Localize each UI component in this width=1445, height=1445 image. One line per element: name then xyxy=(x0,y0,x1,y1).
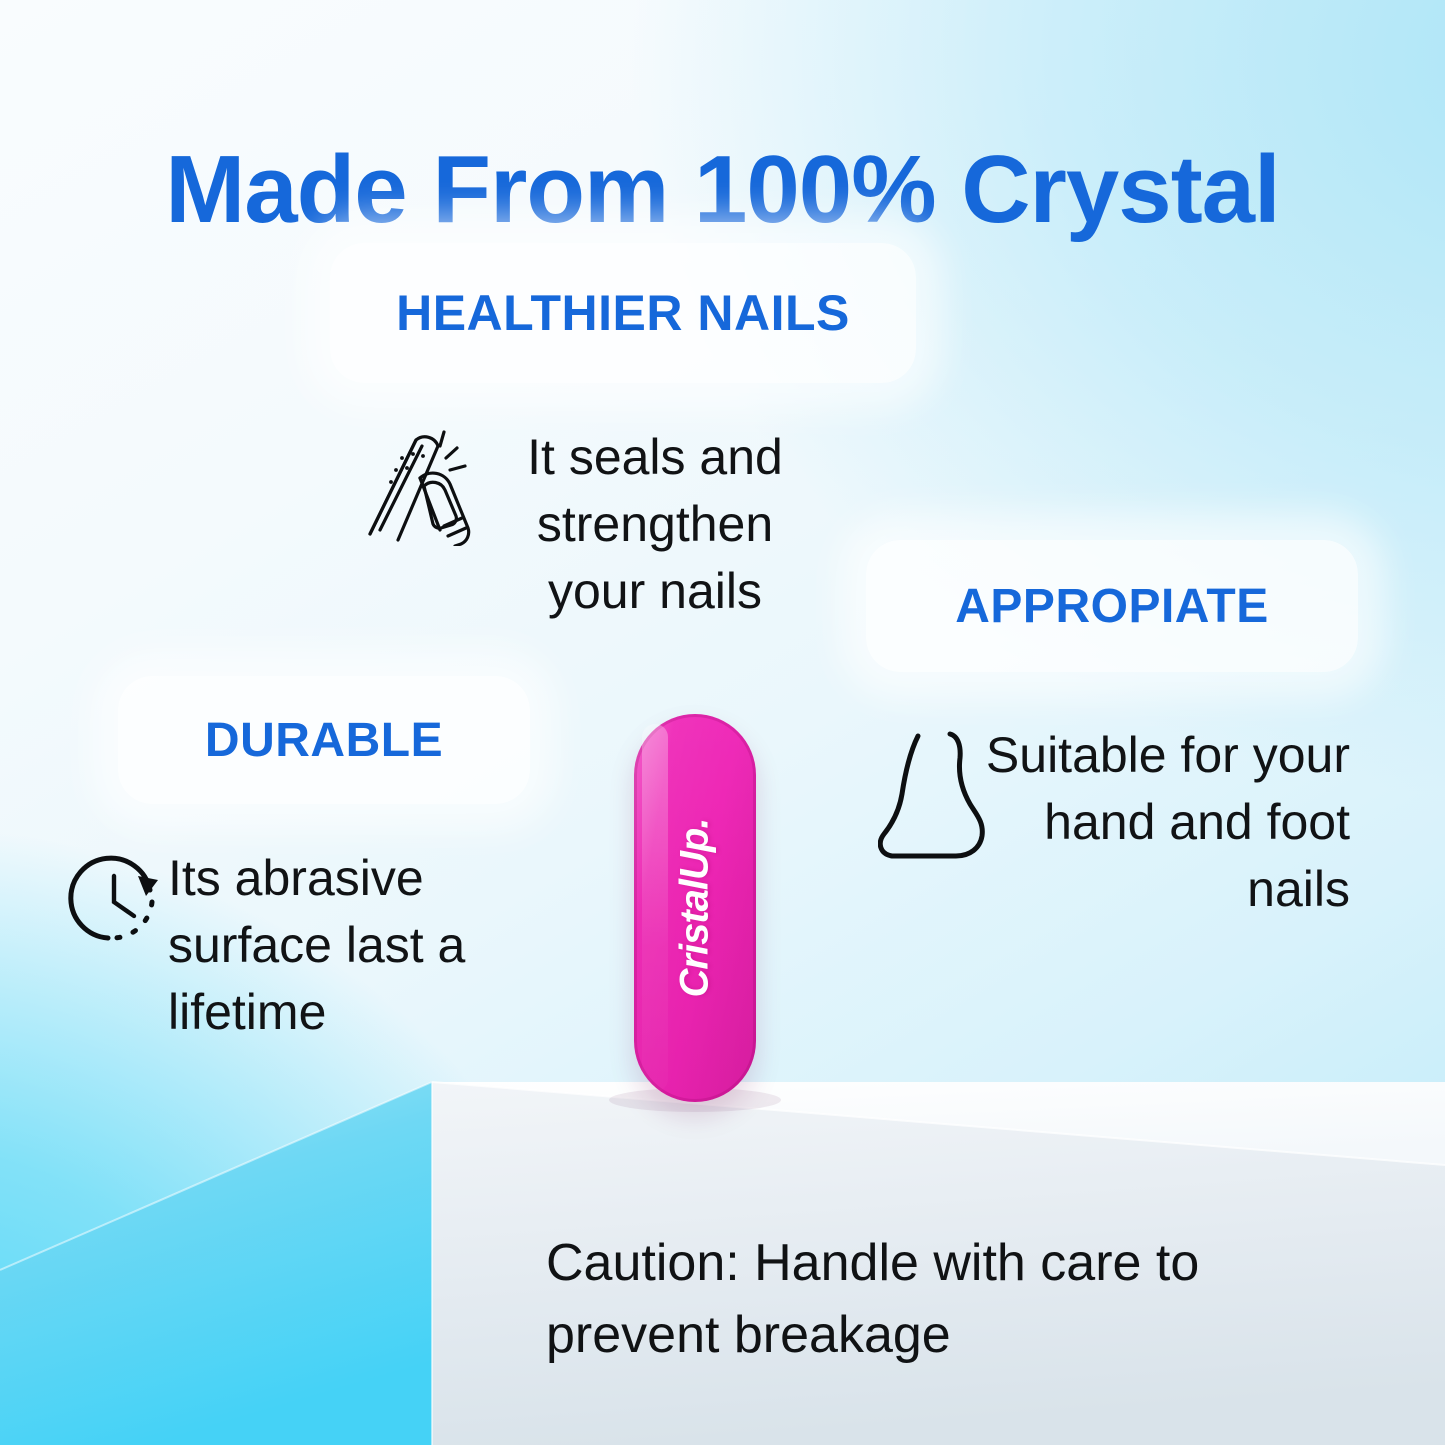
product-brand-logo: CristalUp. xyxy=(673,819,718,998)
feature-text-durable: Its abrasive surface last a lifetime xyxy=(168,845,508,1046)
title-part-bold: 100% Crystal xyxy=(694,136,1280,243)
feature-text-suitable: Suitable for your hand and foot nails xyxy=(950,722,1350,923)
badge-healthier-nails-label: HEALTHIER NAILS xyxy=(396,284,850,342)
badge-appropiate-label: APPROPIATE xyxy=(955,579,1268,634)
feature-text-seals: It seals and strengthen your nails xyxy=(490,424,820,625)
page-title: Made From 100% Crystal xyxy=(0,142,1445,238)
badge-durable: DURABLE xyxy=(118,676,530,804)
product-nail-file: CristalUp. xyxy=(634,714,756,1102)
infographic-canvas: Made From 100% Crystal HEALTHIER NAILS xyxy=(0,0,1445,1445)
badge-appropiate: APPROPIATE xyxy=(866,540,1358,672)
badge-healthier-nails: HEALTHIER NAILS xyxy=(330,243,916,383)
badge-durable-label: DURABLE xyxy=(205,713,443,768)
nail-file-fingertip-icon xyxy=(358,418,482,546)
product-sheen xyxy=(642,724,668,1092)
clock-arrow-icon xyxy=(64,846,168,950)
caution-note: Caution: Handle with care to prevent bre… xyxy=(546,1228,1266,1372)
title-part-light: Made From xyxy=(165,136,694,243)
